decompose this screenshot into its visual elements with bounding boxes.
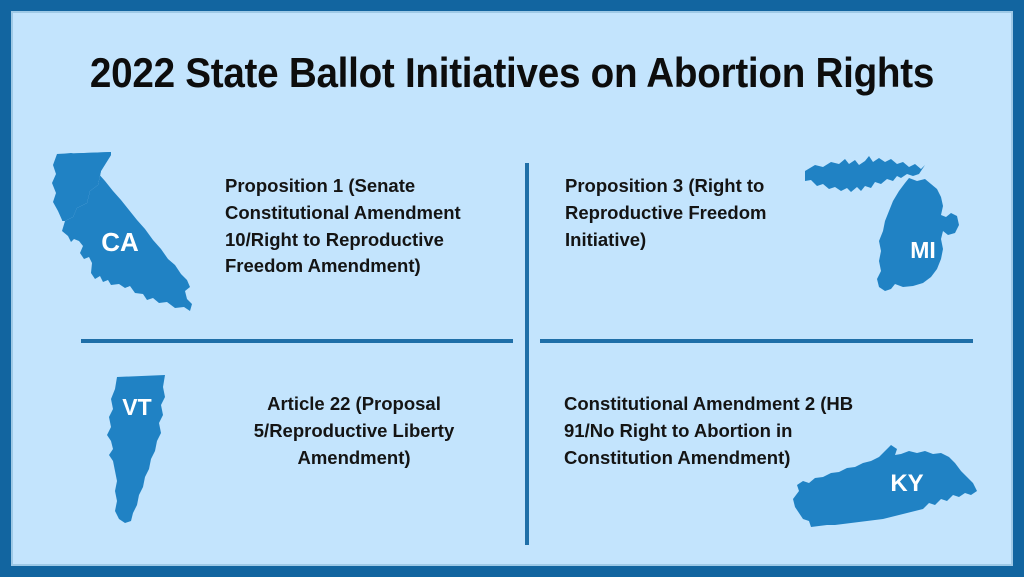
california-state-map-icon: CA bbox=[35, 141, 215, 321]
divider-horizontal-right bbox=[540, 339, 973, 343]
vermont-state-map-icon: VT bbox=[103, 371, 175, 531]
state-abbr-vt: VT bbox=[122, 394, 151, 420]
state-abbr-ky: KY bbox=[890, 470, 923, 497]
divider-horizontal-left bbox=[81, 339, 513, 343]
entry-measure-ca: Proposition 1 (Senate Constitutional Ame… bbox=[225, 173, 505, 280]
page-title: 2022 State Ballot Initiatives on Abortio… bbox=[53, 49, 971, 97]
state-abbr-ca: CA bbox=[101, 227, 139, 257]
infographic-inner-frame: 2022 State Ballot Initiatives on Abortio… bbox=[11, 11, 1013, 566]
divider-vertical bbox=[525, 163, 529, 545]
infographic-canvas: 2022 State Ballot Initiatives on Abortio… bbox=[0, 0, 1024, 577]
entry-measure-ky: Constitutional Amendment 2 (HB 91/No Rig… bbox=[564, 391, 869, 471]
entry-measure-mi: Proposition 3 (Right to Reproductive Fre… bbox=[565, 173, 850, 253]
entry-measure-vt: Article 22 (Proposal 5/Reproductive Libe… bbox=[209, 391, 499, 471]
state-abbr-mi: MI bbox=[910, 237, 936, 263]
